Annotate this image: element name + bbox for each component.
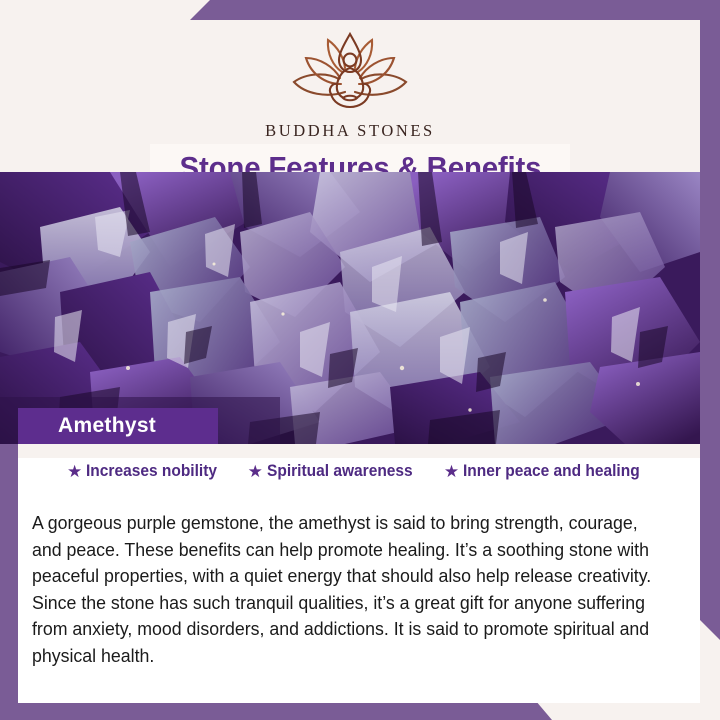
header: BUDDHA STONES Stone Features & Benefits (0, 20, 700, 172)
hero-image (0, 172, 700, 444)
lotus-meditation-icon (275, 28, 425, 119)
star-icon: ★ (248, 463, 263, 480)
stone-name-banner: Amethyst (18, 408, 218, 444)
benefit-item: ★ Increases nobility (67, 462, 226, 481)
benefit-label: Increases nobility (86, 462, 217, 481)
infographic-page: BUDDHA STONES Stone Features & Benefits (0, 0, 720, 720)
brand-name: BUDDHA STONES (265, 121, 435, 141)
top-accent-band (0, 0, 720, 20)
benefit-item: ★ Spiritual awareness (248, 462, 422, 481)
right-accent-band (700, 0, 720, 640)
star-icon: ★ (67, 463, 82, 480)
brand-logo: BUDDHA STONES (0, 28, 700, 141)
stone-name: Amethyst (18, 414, 156, 438)
benefit-label: Spiritual awareness (267, 462, 413, 481)
benefit-label: Inner peace and healing (463, 462, 640, 481)
benefits-list: ★ Increases nobility ★ Spiritual awarene… (18, 462, 700, 481)
benefit-item: ★ Inner peace and healing (444, 462, 651, 481)
star-icon: ★ (444, 463, 459, 480)
content-card: ★ Increases nobility ★ Spiritual awarene… (18, 444, 700, 703)
amethyst-crystal-cluster-photo (0, 172, 700, 444)
left-accent-band (0, 432, 20, 720)
stone-description: A gorgeous purple gemstone, the amethyst… (32, 510, 669, 669)
card-top-tint (18, 444, 700, 458)
